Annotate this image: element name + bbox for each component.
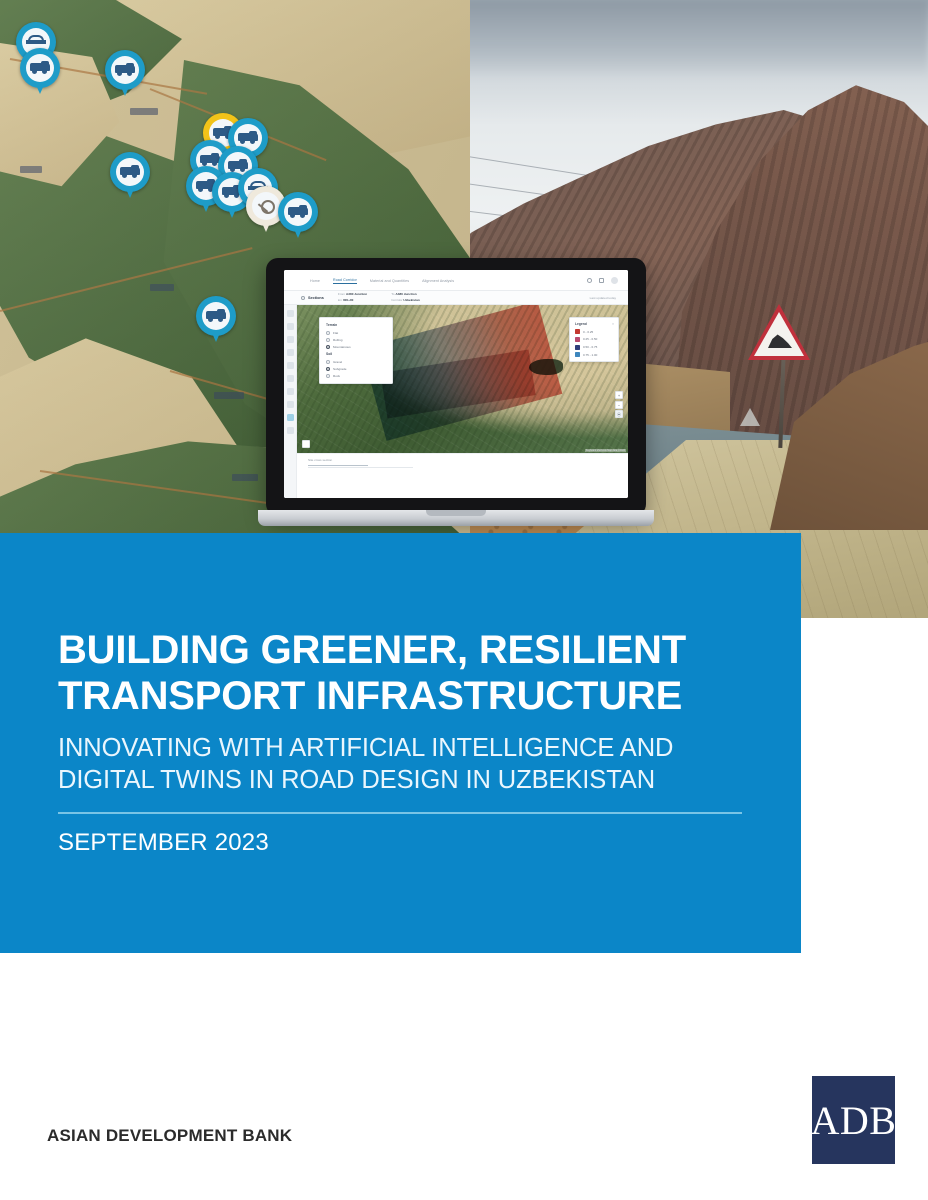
- laptop-mockup: Home Road Corridor Material and Quantiti…: [258, 258, 654, 538]
- legend-title: Legend: [575, 322, 613, 326]
- asset-pin-vehicle-1[interactable]: [20, 48, 60, 96]
- legend-swatch: [575, 345, 580, 350]
- zoom-in-button[interactable]: +: [615, 391, 623, 399]
- asset-pin-vehicle-10[interactable]: [196, 296, 236, 344]
- cover-hero-image: Home Road Corridor Material and Quantiti…: [0, 0, 928, 618]
- radio-icon: [326, 360, 330, 364]
- asset-pin-vehicle-2[interactable]: [105, 50, 145, 98]
- filter-option-rolling[interactable]: Rolling: [326, 338, 386, 342]
- legend-panel[interactable]: Legend × 0 - 0.25 0.25 - 0.50: [569, 317, 619, 362]
- tab-road-corridor[interactable]: Road Corridor: [333, 278, 357, 284]
- filter-panel[interactable]: Terrain Flat Rolling: [319, 317, 393, 384]
- truck-icon: [26, 54, 54, 82]
- map-canvas[interactable]: Terrain Flat Rolling: [297, 305, 628, 453]
- rail-icon-terrain[interactable]: [287, 414, 294, 421]
- document-cover: Home Road Corridor Material and Quantiti…: [0, 0, 928, 1200]
- legend-item: 0 - 0.25: [575, 329, 613, 334]
- close-icon[interactable]: ×: [612, 322, 614, 326]
- status-text: Last updated today: [590, 296, 616, 300]
- from-sub-value: 000+00: [343, 298, 353, 302]
- app-tab-list: Home Road Corridor Material and Quantiti…: [310, 278, 454, 284]
- filter-group-soil-title: Soil: [326, 352, 386, 356]
- rail-icon-table[interactable]: [287, 375, 294, 382]
- app-top-icon-group: [587, 277, 618, 284]
- filter-option-label: Rock: [333, 374, 340, 378]
- filter-option-label: Mountainous: [333, 345, 351, 349]
- map-attribution: Keyboard shortcuts Map data ©2023: [585, 449, 626, 452]
- truck-icon: [202, 302, 230, 330]
- rail-icon-filter[interactable]: [287, 349, 294, 356]
- filter-option-rock[interactable]: Rock: [326, 374, 386, 378]
- legend-swatch: [575, 329, 580, 334]
- cross-section-track[interactable]: [308, 465, 368, 466]
- cross-section-label: Site cross section: [308, 458, 628, 462]
- truck-icon: [284, 198, 312, 226]
- radio-icon: [326, 374, 330, 378]
- to-value: A380 Junction: [395, 292, 416, 296]
- legend-item: 0.75 - 1.00: [575, 352, 613, 357]
- rail-icon-layers[interactable]: [287, 310, 294, 317]
- corridor-label: Corridor: [391, 298, 402, 302]
- filter-option-label: Rolling: [333, 338, 342, 342]
- filter-option-gravel[interactable]: Gravel: [326, 360, 386, 364]
- legend-label: 0.25 - 0.50: [583, 337, 597, 341]
- radio-icon-selected: [326, 367, 330, 371]
- to-label: To: [391, 292, 394, 296]
- search-icon[interactable]: [587, 278, 592, 283]
- app-sub-toolbar: Sections From A380 Junction km 000+00 To…: [284, 291, 628, 305]
- zoom-out-button[interactable]: −: [615, 401, 623, 409]
- from-sub-label: km: [338, 298, 342, 302]
- radio-icon: [326, 338, 330, 342]
- title-divider: [58, 812, 742, 814]
- radio-icon-selected: [326, 345, 330, 349]
- corridor-value: Uzbekistan: [403, 298, 419, 302]
- map-zoom-controls[interactable]: + − ⦿: [615, 391, 623, 420]
- falling-rocks-warning-sign-icon: [748, 304, 810, 360]
- rail-icon-share[interactable]: [287, 401, 294, 408]
- asset-pin-vehicle-9[interactable]: [278, 192, 318, 240]
- legend-label: 0 - 0.25: [583, 330, 593, 334]
- gis-application: Home Road Corridor Material and Quantiti…: [284, 270, 628, 498]
- asset-pin-vehicle-3[interactable]: [110, 152, 150, 200]
- laptop-screen: Home Road Corridor Material and Quantiti…: [284, 270, 628, 498]
- cloud-band: [440, 0, 928, 78]
- radio-icon: [326, 331, 330, 335]
- rail-icon-settings[interactable]: [287, 427, 294, 434]
- grid-icon[interactable]: [599, 278, 604, 283]
- legend-label: 0.50 - 0.75: [583, 345, 597, 349]
- publication-date: SEPTEMBER 2023: [58, 829, 269, 857]
- tab-home[interactable]: Home: [310, 279, 320, 283]
- laptop-lid: Home Road Corridor Material and Quantiti…: [266, 258, 646, 516]
- from-value: A380 Junction: [346, 292, 367, 296]
- section-title: Sections: [308, 296, 324, 300]
- filter-option-flat[interactable]: Flat: [326, 331, 386, 335]
- legend-item: 0.50 - 0.75: [575, 345, 613, 350]
- legend-swatch: [575, 337, 580, 342]
- title-line-1: BUILDING GREENER, RESILIENT: [58, 628, 758, 674]
- organization-name: ASIAN DEVELOPMENT BANK: [47, 1126, 292, 1146]
- laptop-notch: [426, 510, 486, 516]
- filter-option-label: Flat: [333, 331, 338, 335]
- rail-icon-measure[interactable]: [287, 336, 294, 343]
- tab-alignment-analysis[interactable]: Alignment Analysis: [422, 279, 454, 283]
- title-banner: BUILDING GREENER, RESILIENT TRANSPORT IN…: [0, 533, 801, 953]
- tab-material-and-quantities[interactable]: Material and Quantities: [370, 279, 409, 283]
- filter-option-mountainous[interactable]: Mountainous: [326, 345, 386, 349]
- subtitle-line-1: INNOVATING WITH ARTIFICIAL INTELLIGENCE …: [58, 733, 748, 765]
- rail-icon-chart[interactable]: [287, 362, 294, 369]
- basemap-toggle-button[interactable]: [302, 440, 310, 448]
- adb-logo: ADB: [812, 1076, 895, 1164]
- locate-button[interactable]: ⦿: [615, 410, 623, 418]
- layers-icon: [301, 296, 305, 300]
- filter-option-label: Subgrade: [333, 367, 346, 371]
- legend-swatch: [575, 352, 580, 357]
- from-label: From: [338, 292, 345, 296]
- filter-option-label: Gravel: [333, 360, 342, 364]
- page-subtitle: INNOVATING WITH ARTIFICIAL INTELLIGENCE …: [58, 733, 748, 797]
- filter-option-subgrade[interactable]: Subgrade: [326, 367, 386, 371]
- cross-section-track-secondary[interactable]: [308, 467, 413, 468]
- rail-icon-export[interactable]: [287, 388, 294, 395]
- filter-group-terrain-title: Terrain: [326, 323, 386, 327]
- avatar[interactable]: [611, 277, 618, 284]
- app-footer-panel: Site cross section: [297, 453, 628, 471]
- to-field[interactable]: To A380 Junction Corridor Uzbekistan: [391, 292, 420, 302]
- adb-logo-text: ADB: [811, 1097, 897, 1144]
- rail-icon-edit[interactable]: [287, 323, 294, 330]
- app-left-rail: [284, 305, 297, 498]
- truck-icon: [111, 56, 139, 84]
- gear-icon: [252, 192, 280, 220]
- secondary-sign-icon: [740, 408, 760, 426]
- page-title: BUILDING GREENER, RESILIENT TRANSPORT IN…: [58, 628, 758, 719]
- app-top-bar: Home Road Corridor Material and Quantiti…: [284, 270, 628, 291]
- legend-label: 0.75 - 1.00: [583, 353, 597, 357]
- truck-icon: [116, 158, 144, 186]
- legend-item: 0.25 - 0.50: [575, 337, 613, 342]
- from-field[interactable]: From A380 Junction km 000+00: [338, 292, 367, 302]
- subtitle-line-2: DIGITAL TWINS IN ROAD DESIGN IN UZBEKIST…: [58, 765, 748, 797]
- title-line-2: TRANSPORT INFRASTRUCTURE: [58, 674, 758, 720]
